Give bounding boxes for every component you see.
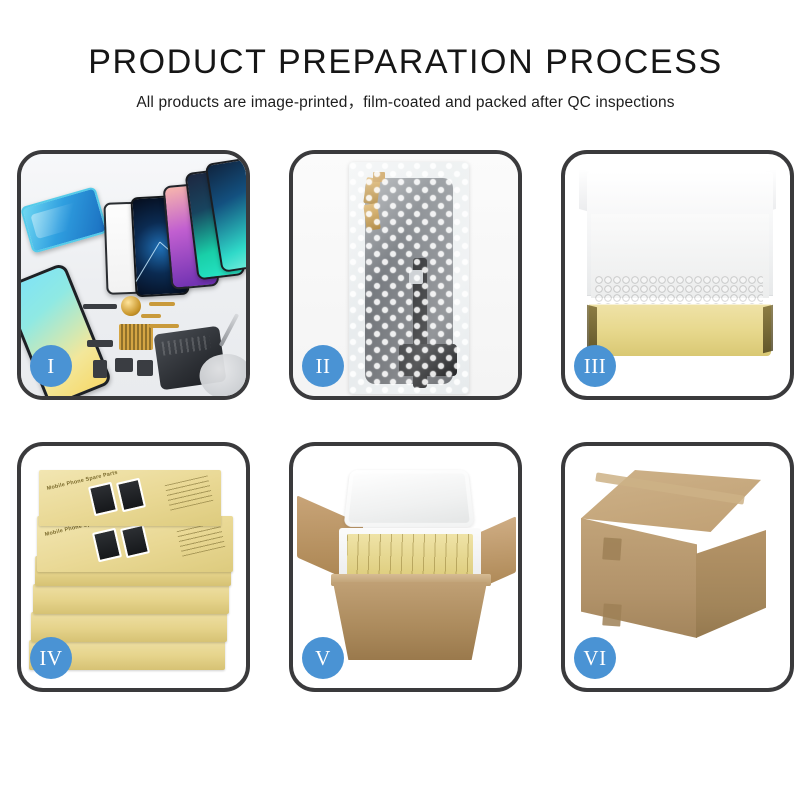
flex-cable-part [149,324,179,328]
speaker-strip-part [83,304,117,309]
flex-cable-part [141,314,161,318]
process-step-1: I [17,150,250,400]
box-artwork-swatch [88,482,118,517]
camera-lens-part [121,296,141,316]
carton-tape-patch [602,537,621,560]
kraft-box-tray [589,304,771,356]
retail-box-top: Mobile Phone Spare Parts [39,470,221,526]
carton-side-face [696,530,766,638]
process-step-6: VI [561,442,794,692]
camera-module-part [115,358,133,372]
step-badge-3: III [574,345,616,387]
process-step-grid: I II [17,150,794,692]
box-artwork-swatch [120,524,150,559]
connector-grid-part [119,324,153,350]
step-badge-4: IV [30,637,72,679]
carton-front-face [581,518,697,638]
step-badge-6: VI [574,637,616,679]
sim-tray-part [93,360,107,378]
product-preparation-infographic: PRODUCT PREPARATION PROCESS All products… [0,0,811,811]
retail-box [31,612,227,642]
page-title: PRODUCT PREPARATION PROCESS [0,44,811,81]
button-part [137,360,153,376]
plastic-sheen [349,162,469,394]
box-artwork-swatch [92,528,122,563]
bubble-wrap-sleeve [349,162,469,394]
process-step-5: V [289,442,522,692]
retail-box [33,584,229,614]
foam-box-lid [344,470,475,527]
process-step-2: II [289,150,522,400]
header: PRODUCT PREPARATION PROCESS All products… [0,0,811,113]
step-badge-5: V [302,637,344,679]
box-spec-text-lines [177,521,226,556]
box-artwork-swatch [116,478,146,513]
box-spec-text-lines [165,475,214,510]
small-module-part [87,340,113,347]
page-subtitle: All products are image-printed，film-coat… [0,94,811,113]
step-badge-2: II [302,345,344,387]
flex-cable-part [149,302,175,306]
carton-tape-patch [602,603,621,626]
carton-body [333,582,487,660]
process-step-4: Mobile Phone Spare Parts Mobile Phone Sp… [17,442,250,692]
step-badge-1: I [30,345,72,387]
process-step-3: III [561,150,794,400]
